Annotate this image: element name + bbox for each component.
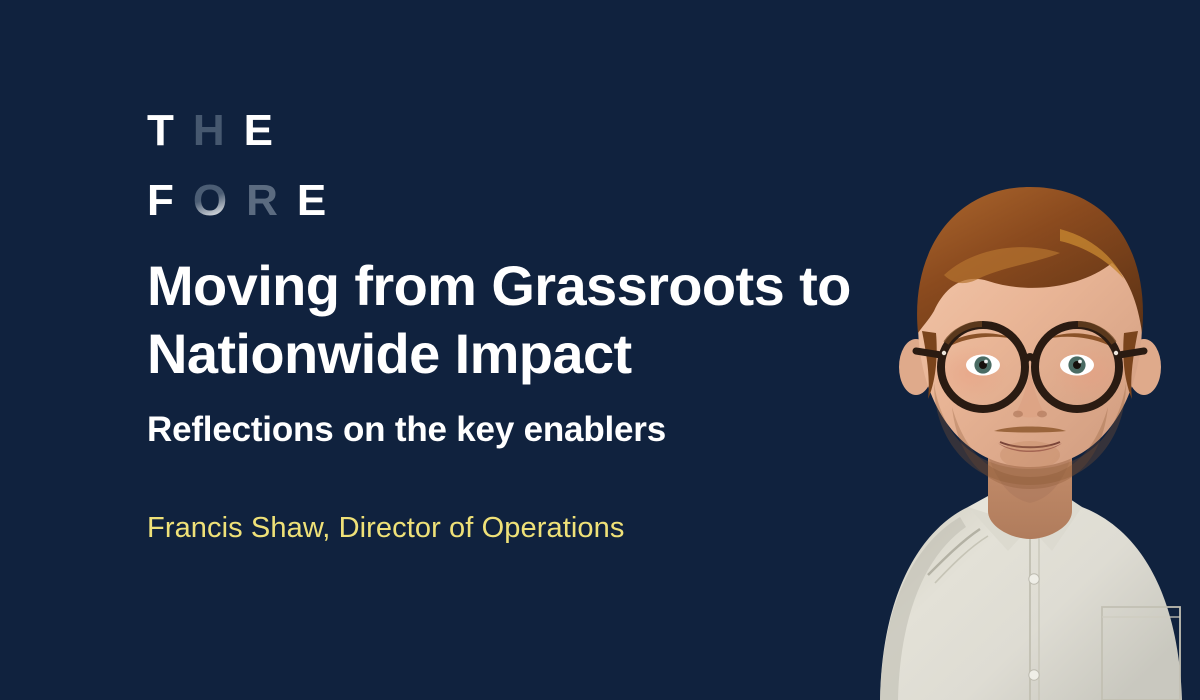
logo-letter-r: R <box>246 166 297 236</box>
the-fore-logo: THE FORE <box>147 96 477 236</box>
logo-letter-h: H <box>193 96 244 166</box>
logo-letter-o: O <box>193 166 246 236</box>
logo-letter-e: E <box>244 96 292 166</box>
speaker-portrait-photo <box>730 155 1200 700</box>
portrait-illustration <box>730 155 1200 700</box>
logo-line-fore: FORE <box>147 166 477 236</box>
headline-line-2: Nationwide Impact <box>147 320 917 388</box>
glasses-tortoise-detail <box>942 324 1118 355</box>
headline-line-1: Moving from Grassroots to <box>147 252 917 320</box>
glasses-icon <box>916 325 1144 409</box>
portrait-head <box>899 187 1161 489</box>
logo-letter-f: F <box>147 166 193 236</box>
presentation-title-slide: THE FORE Moving from Grassroots to Natio… <box>0 0 1200 700</box>
logo-letter-t: T <box>147 96 193 166</box>
portrait-collar <box>968 495 1082 551</box>
page-title: Moving from Grassroots to Nationwide Imp… <box>147 252 917 388</box>
logo-letter-e2: E <box>297 166 345 236</box>
logo-line-the: THE <box>147 96 477 166</box>
portrait-shirt <box>880 495 1182 700</box>
portrait-neck <box>988 433 1072 539</box>
speaker-byline: Francis Shaw, Director of Operations <box>147 510 624 546</box>
page-subtitle: Reflections on the key enablers <box>147 408 666 452</box>
